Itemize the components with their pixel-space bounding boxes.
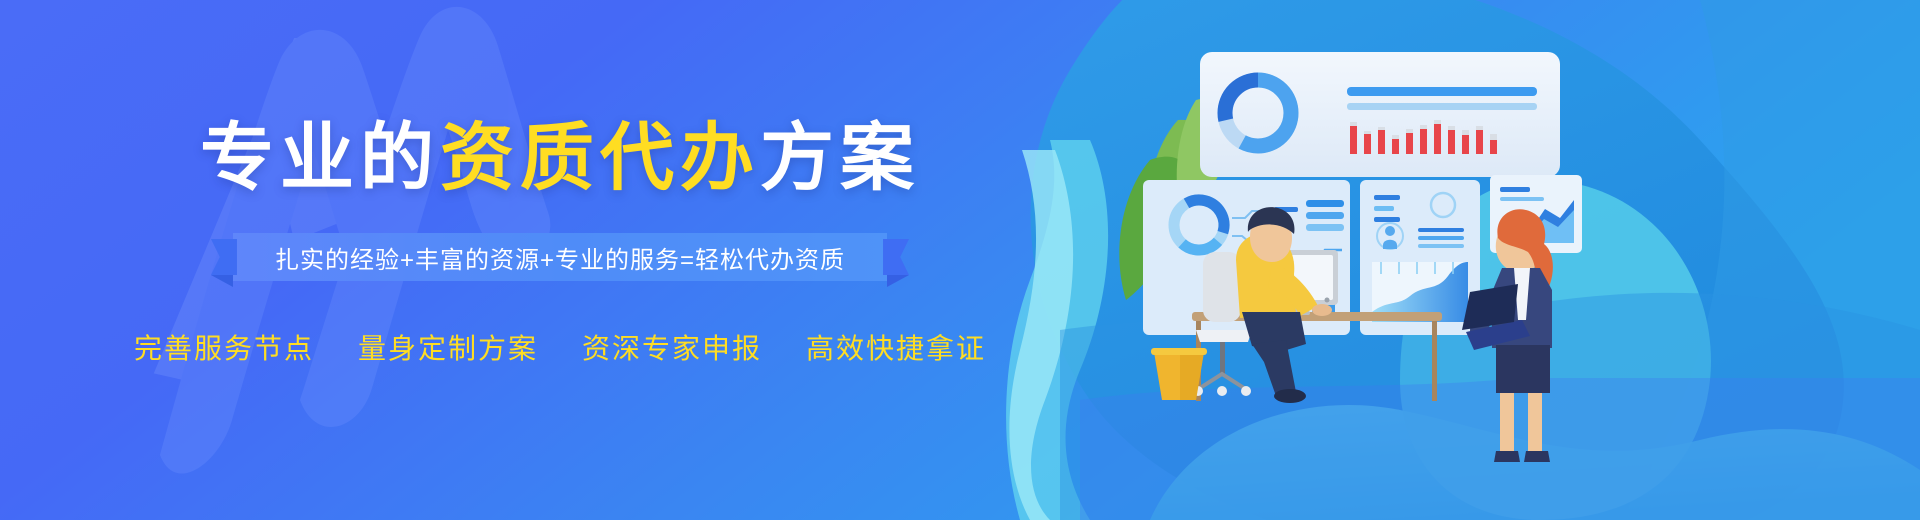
desk-leg-right [1432,321,1437,401]
page-title: 专业的资质代办方案 [200,121,920,195]
woman-leg-right [1528,393,1542,453]
promo-banner: 专业的资质代办方案 扎实的经验+丰富的资源+专业的服务=轻松代办资质 完善服务节… [0,0,1920,520]
card-bar-2 [1347,103,1537,110]
card-bar-1 [1347,87,1537,96]
woman-leg-left [1500,393,1514,453]
feature-item-3[interactable]: 资深专家申报 [582,327,762,367]
feature-list: 完善服务节点 量身定制方案 资深专家申报 高效快捷拿证 [134,327,986,367]
woman-skirt [1496,345,1550,393]
dashboard-card-top [1200,52,1560,177]
ribbon-tail-shadow-right [887,275,909,287]
headline-white-1: 专业的 [200,116,440,199]
man-shoe [1274,389,1306,403]
feature-item-1[interactable]: 完善服务节点 [134,327,314,367]
headline-yellow: 资质代办 [440,116,760,199]
text-content: 专业的资质代办方案 扎实的经验+丰富的资源+专业的服务=轻松代办资质 完善服务节… [0,0,1060,520]
subtitle-text: 扎实的经验+丰富的资源+专业的服务=轻松代办资质 [233,233,887,281]
man-hand [1312,304,1332,316]
feature-item-2[interactable]: 量身定制方案 [358,327,538,367]
feature-item-4[interactable]: 高效快捷拿证 [806,327,986,367]
woman-shoe-right [1524,451,1550,462]
subtitle-ribbon: 扎实的经验+丰富的资源+专业的服务=轻松代办资质 [233,233,887,281]
woman-shoe-left [1494,451,1520,462]
ribbon-tail-shadow-left [211,275,233,287]
headline-white-2: 方案 [760,116,920,199]
dashboard-card-mid [1360,180,1480,335]
